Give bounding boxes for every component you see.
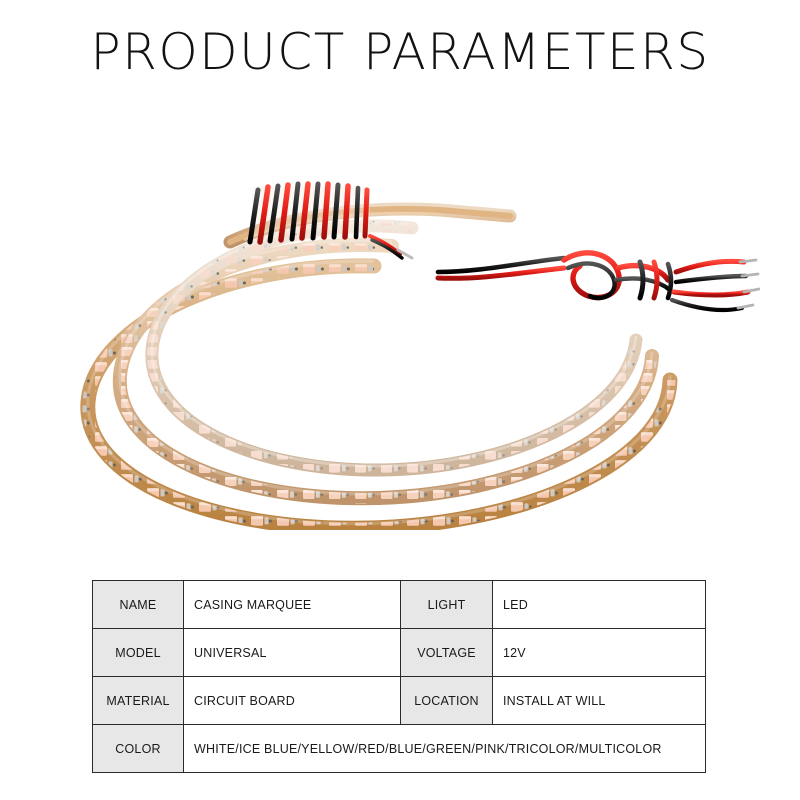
spec-value-location: INSTALL AT WILL [493,677,706,725]
table-row: COLOR WHITE/ICE BLUE/YELLOW/RED/BLUE/GRE… [93,725,706,773]
spec-value-material: CIRCUIT BOARD [184,677,401,725]
spec-label-location: LOCATION [401,677,493,725]
table-row: MATERIAL CIRCUIT BOARD LOCATION INSTALL … [93,677,706,725]
page-title: PRODUCT PARAMETERS [0,24,800,80]
product-image [40,150,760,530]
spec-value-name: CASING MARQUEE [184,581,401,629]
spec-label-model: MODEL [93,629,184,677]
table-row: MODEL UNIVERSAL VOLTAGE 12V [93,629,706,677]
spec-label-light: LIGHT [401,581,493,629]
spec-value-model: UNIVERSAL [184,629,401,677]
power-lead-wires [438,253,759,310]
spec-value-voltage: 12V [493,629,706,677]
spec-label-color: COLOR [93,725,184,773]
spec-value-light: LED [493,581,706,629]
spec-label-voltage: VOLTAGE [401,629,493,677]
table-row: NAME CASING MARQUEE LIGHT LED [93,581,706,629]
spec-value-color: WHITE/ICE BLUE/YELLOW/RED/BLUE/GREEN/PIN… [184,725,706,773]
wire-knot [564,253,671,298]
spec-label-name: NAME [93,581,184,629]
spec-label-material: MATERIAL [93,677,184,725]
product-spec-table: NAME CASING MARQUEE LIGHT LED MODEL UNIV… [92,580,706,773]
led-strip-photo-icon [40,150,760,530]
